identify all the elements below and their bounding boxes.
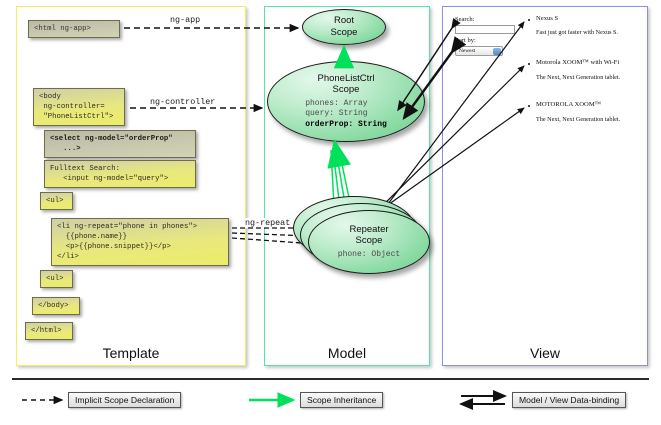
view-sort-label: Sort by: xyxy=(455,37,476,44)
view-phone-name[interactable]: Nexus S xyxy=(536,15,558,22)
scope-phonelistctrl-props: phones: Array query: String orderProp: S… xyxy=(305,99,387,131)
view-sort-select[interactable]: Newest xyxy=(455,46,503,56)
scope-repeater: Repeater Scope phone: Object xyxy=(308,210,430,274)
diagram-canvas: Template Model View <html ng-app> <body … xyxy=(0,0,661,425)
panel-view-label: View xyxy=(443,345,647,361)
view-phone-name[interactable]: Motorola XOOM™ with Wi-Fi xyxy=(536,59,619,66)
panel-model-label: Model xyxy=(265,345,429,361)
edge-label-ng-repeat: ng-repeat xyxy=(243,218,292,228)
view-phone-snippet: Fast just got faster with Nexus S. xyxy=(536,29,618,36)
code-box-body-tag: <body ng-controller= "PhoneListCtrl"> xyxy=(33,88,125,126)
scope-root: Root Scope xyxy=(302,9,386,45)
scope-prop-orderprop: orderProp: String xyxy=(305,120,387,131)
scope-phonelistctrl: PhoneListCtrl Scope phones: Array query:… xyxy=(267,61,425,142)
edge-label-ng-controller: ng-controller xyxy=(148,97,217,107)
scope-root-title: Root Scope xyxy=(331,15,358,38)
legend-item-implicit-scope-declaration: Implicit Scope Declaration xyxy=(68,392,181,408)
view-phone-name[interactable]: MOTOROLA XOOM™ xyxy=(536,101,601,108)
legend-item-scope-inheritance: Scope Inheritance xyxy=(300,392,383,408)
scope-phonelistctrl-title: PhoneListCtrl Scope xyxy=(317,73,374,96)
view-phone-snippet: The Next, Next Generation tablet. xyxy=(536,74,620,81)
code-box-ul-close: <ul> xyxy=(40,270,73,288)
edge-label-ng-app: ng-app xyxy=(168,15,202,25)
scope-prop-phone: phone: Object xyxy=(338,250,400,261)
legend-item-model-view-data-binding: Model / View Data-binding xyxy=(512,392,626,408)
chevron-updown-icon xyxy=(493,48,501,55)
view-sort-value: Newest xyxy=(459,48,475,54)
panel-model: Model xyxy=(264,6,430,366)
code-box-li-repeat: <li ng-repeat="phone in phones"> {{phone… xyxy=(51,218,229,266)
code-box-html-close: </html> xyxy=(25,322,73,340)
view-search-input[interactable] xyxy=(455,25,515,34)
scope-prop-phones: phones: Array xyxy=(305,99,387,110)
code-box-html-tag: <html ng-app> xyxy=(28,20,120,38)
code-box-select-tag: <select ng-model="orderProp" ...> xyxy=(44,130,196,158)
scope-repeater-props: phone: Object xyxy=(338,250,400,261)
scope-prop-query: query: String xyxy=(305,109,387,120)
view-search-label: Search: xyxy=(455,16,475,23)
view-phone-snippet: The Next, Next Generation tablet. xyxy=(536,116,620,123)
scope-repeater-title: Repeater Scope xyxy=(349,224,388,247)
legend-divider xyxy=(12,378,649,380)
code-box-search-input: Fulltext Search: <input ng-model="query"… xyxy=(44,160,196,188)
code-box-ul-open: <ul> xyxy=(40,192,73,210)
code-box-body-close: </body> xyxy=(32,297,80,315)
panel-template-label: Template xyxy=(17,345,245,361)
